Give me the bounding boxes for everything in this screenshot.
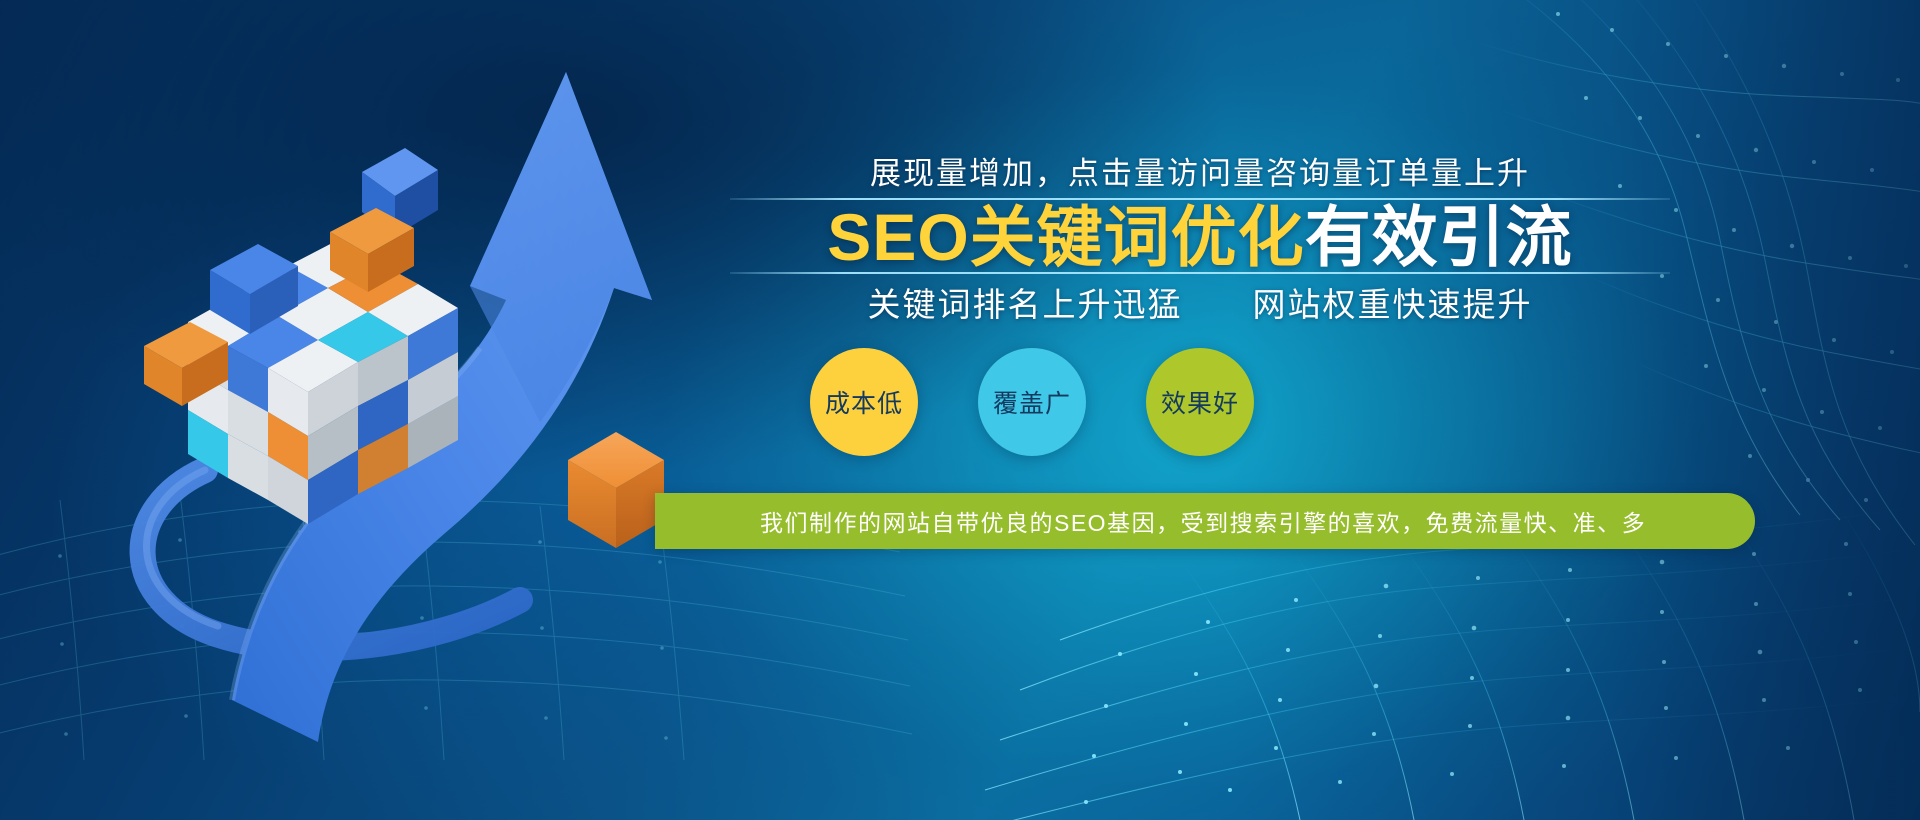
floating-orange-cube [568, 432, 664, 548]
banner-headline: SEO关键词优化有效引流 [730, 196, 1670, 278]
hero-3d-illustration [0, 0, 760, 820]
banner-kicker: 展现量增加，点击量访问量咨询量订单量上升 [730, 148, 1670, 193]
benefit-badge-coverage[interactable]: 覆盖广 [978, 348, 1086, 456]
benefit-badge-group: 成本低 覆盖广 效果好 [810, 348, 1370, 468]
seo-promo-banner: 展现量增加，点击量访问量咨询量订单量上升 SEO关键词优化有效引流 关键词排名上… [0, 0, 1920, 820]
headline-highlight: SEO关键词优化 [827, 200, 1304, 274]
headline-rest: 有效引流 [1305, 200, 1573, 274]
banner-copy-block: 展现量增加，点击量访问量咨询量订单量上升 SEO关键词优化有效引流 关键词排名上… [700, 0, 1920, 820]
promo-pill-text: 我们制作的网站自带优良的SEO基因，受到搜索引擎的喜欢，免费流量快、准、多 [655, 504, 1646, 538]
headline-rule-bottom [730, 272, 1670, 274]
benefit-badge-cost[interactable]: 成本低 [810, 348, 918, 456]
benefit-badge-effect[interactable]: 效果好 [1146, 348, 1254, 456]
banner-subline: 关键词排名上升迅猛 网站权重快速提升 [730, 278, 1670, 326]
promo-pill-banner: 我们制作的网站自带优良的SEO基因，受到搜索引擎的喜欢，免费流量快、准、多 [655, 493, 1755, 549]
